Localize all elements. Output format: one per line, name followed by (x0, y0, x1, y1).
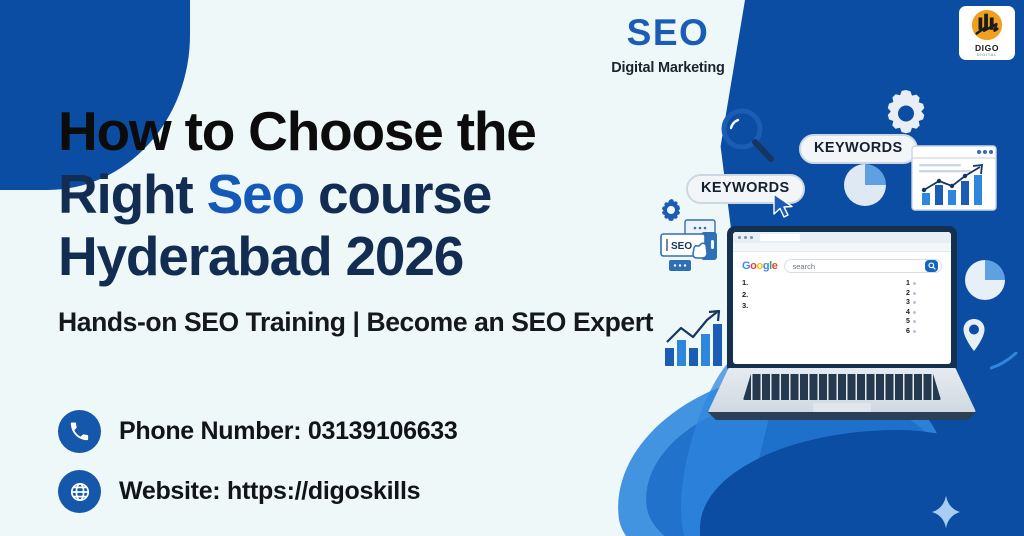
pagination-item[interactable]: 5 (906, 318, 942, 325)
laptop-screen: Google search (727, 226, 957, 370)
laptop-trackpad (813, 403, 871, 412)
contact-phone-label: Phone Number: 03139106633 (119, 417, 458, 446)
pagination[interactable]: 1 2 3 4 5 6 (906, 279, 942, 337)
search-input-value: search (793, 262, 816, 271)
page-title: How to Choose the Right Seo course Hyder… (58, 100, 678, 288)
google-logo: Google (742, 261, 778, 272)
search-result-item[interactable]: 2. (742, 291, 900, 299)
contact-phone[interactable]: Phone Number: 03139106633 (58, 410, 458, 453)
browser-tab[interactable] (760, 234, 800, 241)
seo-card-label: SEO (671, 241, 692, 252)
sparkle-icon (931, 496, 961, 528)
bar-chart-logo-icon (968, 9, 1006, 43)
browser-address-bar[interactable] (733, 243, 951, 252)
swoosh-accent-icon (990, 352, 1018, 370)
search-result-item[interactable]: 3. (742, 302, 900, 310)
result-number: 1. (742, 279, 748, 287)
logo-name: DIGO (975, 44, 999, 53)
result-number: 3. (742, 302, 748, 310)
headline-line-1: How to Choose the (58, 100, 678, 163)
globe-icon (58, 470, 101, 513)
browser-chart-window (911, 145, 997, 211)
logo-tagline: DIGITAL (977, 53, 998, 57)
seo-header-title: SEO (598, 14, 738, 51)
laptop-foot (705, 412, 979, 420)
headline-line-2-suffix: course (304, 163, 491, 225)
seo-course-banner: SEO Digital Marketing DIGO DIGITAL How t… (0, 0, 1024, 536)
search-input[interactable]: search (784, 259, 942, 273)
search-result-item[interactable]: 1. (742, 279, 900, 287)
pie-chart-icon (841, 162, 889, 208)
browser-titlebar (733, 232, 951, 243)
window-dot-icon (750, 236, 753, 239)
contact-website-label: Website: https://digoskills (119, 477, 420, 506)
seo-header-subtitle: Digital Marketing (598, 60, 738, 76)
pagination-item[interactable]: 4 (906, 309, 942, 316)
page-subtitle: Hands-on SEO Training | Become an SEO Ex… (58, 307, 653, 338)
window-dot-icon (744, 236, 747, 239)
pagination-item[interactable]: 3 (906, 299, 942, 306)
magnifier-icon (716, 104, 778, 166)
headline-keyword-seo: Seo (207, 163, 304, 225)
headline-line-2-prefix: Right (58, 163, 207, 225)
search-icon[interactable] (925, 260, 938, 272)
digo-logo[interactable]: DIGO DIGITAL (959, 6, 1015, 60)
search-results-list: 1. 2. 3. (742, 279, 900, 337)
seo-header: SEO Digital Marketing (598, 14, 738, 76)
pagination-item[interactable]: 2 (906, 290, 942, 297)
laptop-keyboard (743, 374, 941, 400)
headline-line-3: Hyderabad 2026 (58, 225, 678, 288)
contact-website[interactable]: Website: https://digoskills (58, 470, 420, 513)
phone-icon (58, 410, 101, 453)
gear-white-icon (880, 88, 932, 140)
laptop-illustration: Google search (707, 226, 977, 431)
pagination-item[interactable]: 1 (906, 280, 942, 287)
keywords-pill-2: KEYWORDS (799, 134, 918, 164)
hand-pointer-icon (693, 243, 707, 258)
cursor-arrow-icon (771, 192, 795, 220)
window-dot-icon (738, 236, 741, 239)
pagination-item[interactable]: 6 (906, 328, 942, 335)
result-number: 2. (742, 291, 748, 299)
